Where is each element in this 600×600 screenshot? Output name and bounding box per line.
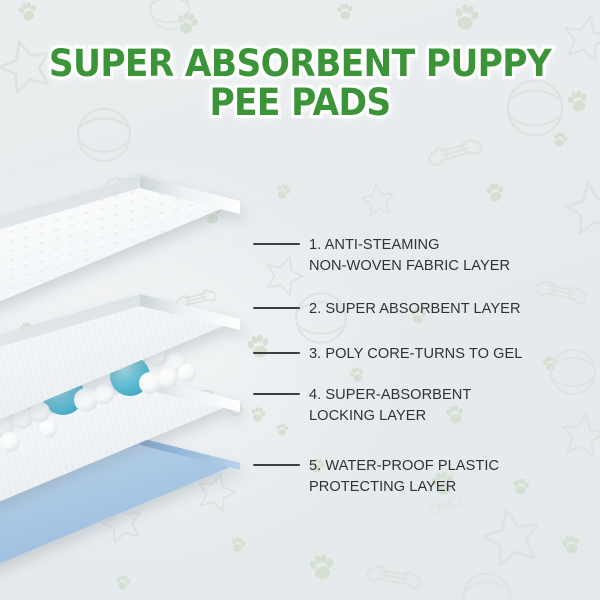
leader-line-1 (253, 243, 300, 245)
callout-5: 5. WATER-PROOF PLASTIC PROTECTING LAYER (253, 456, 499, 498)
leader-line-4 (253, 393, 300, 395)
callout-1: 1. ANTI-STEAMING NON-WOVEN FABRIC LAYER (253, 235, 510, 277)
leader-line-2 (253, 307, 300, 309)
callout-list: 1. ANTI-STEAMING NON-WOVEN FABRIC LAYER … (0, 0, 600, 600)
leader-line-3 (253, 352, 300, 354)
infographic-canvas: SUPER ABSORBENT PUPPY PEE PADS (0, 0, 600, 600)
leader-line-5 (253, 464, 300, 466)
callout-label-4: 4. SUPER-ABSORBENT LOCKING LAYER (309, 385, 471, 427)
callout-label-5: 5. WATER-PROOF PLASTIC PROTECTING LAYER (309, 456, 499, 498)
callout-label-3: 3. POLY CORE-TURNS TO GEL (309, 344, 522, 365)
callout-4: 4. SUPER-ABSORBENT LOCKING LAYER (253, 385, 471, 427)
callout-label-1: 1. ANTI-STEAMING NON-WOVEN FABRIC LAYER (309, 235, 510, 277)
callout-2: 2. SUPER ABSORBENT LAYER (253, 299, 521, 320)
callout-3: 3. POLY CORE-TURNS TO GEL (253, 344, 522, 365)
callout-label-2: 2. SUPER ABSORBENT LAYER (309, 299, 521, 320)
